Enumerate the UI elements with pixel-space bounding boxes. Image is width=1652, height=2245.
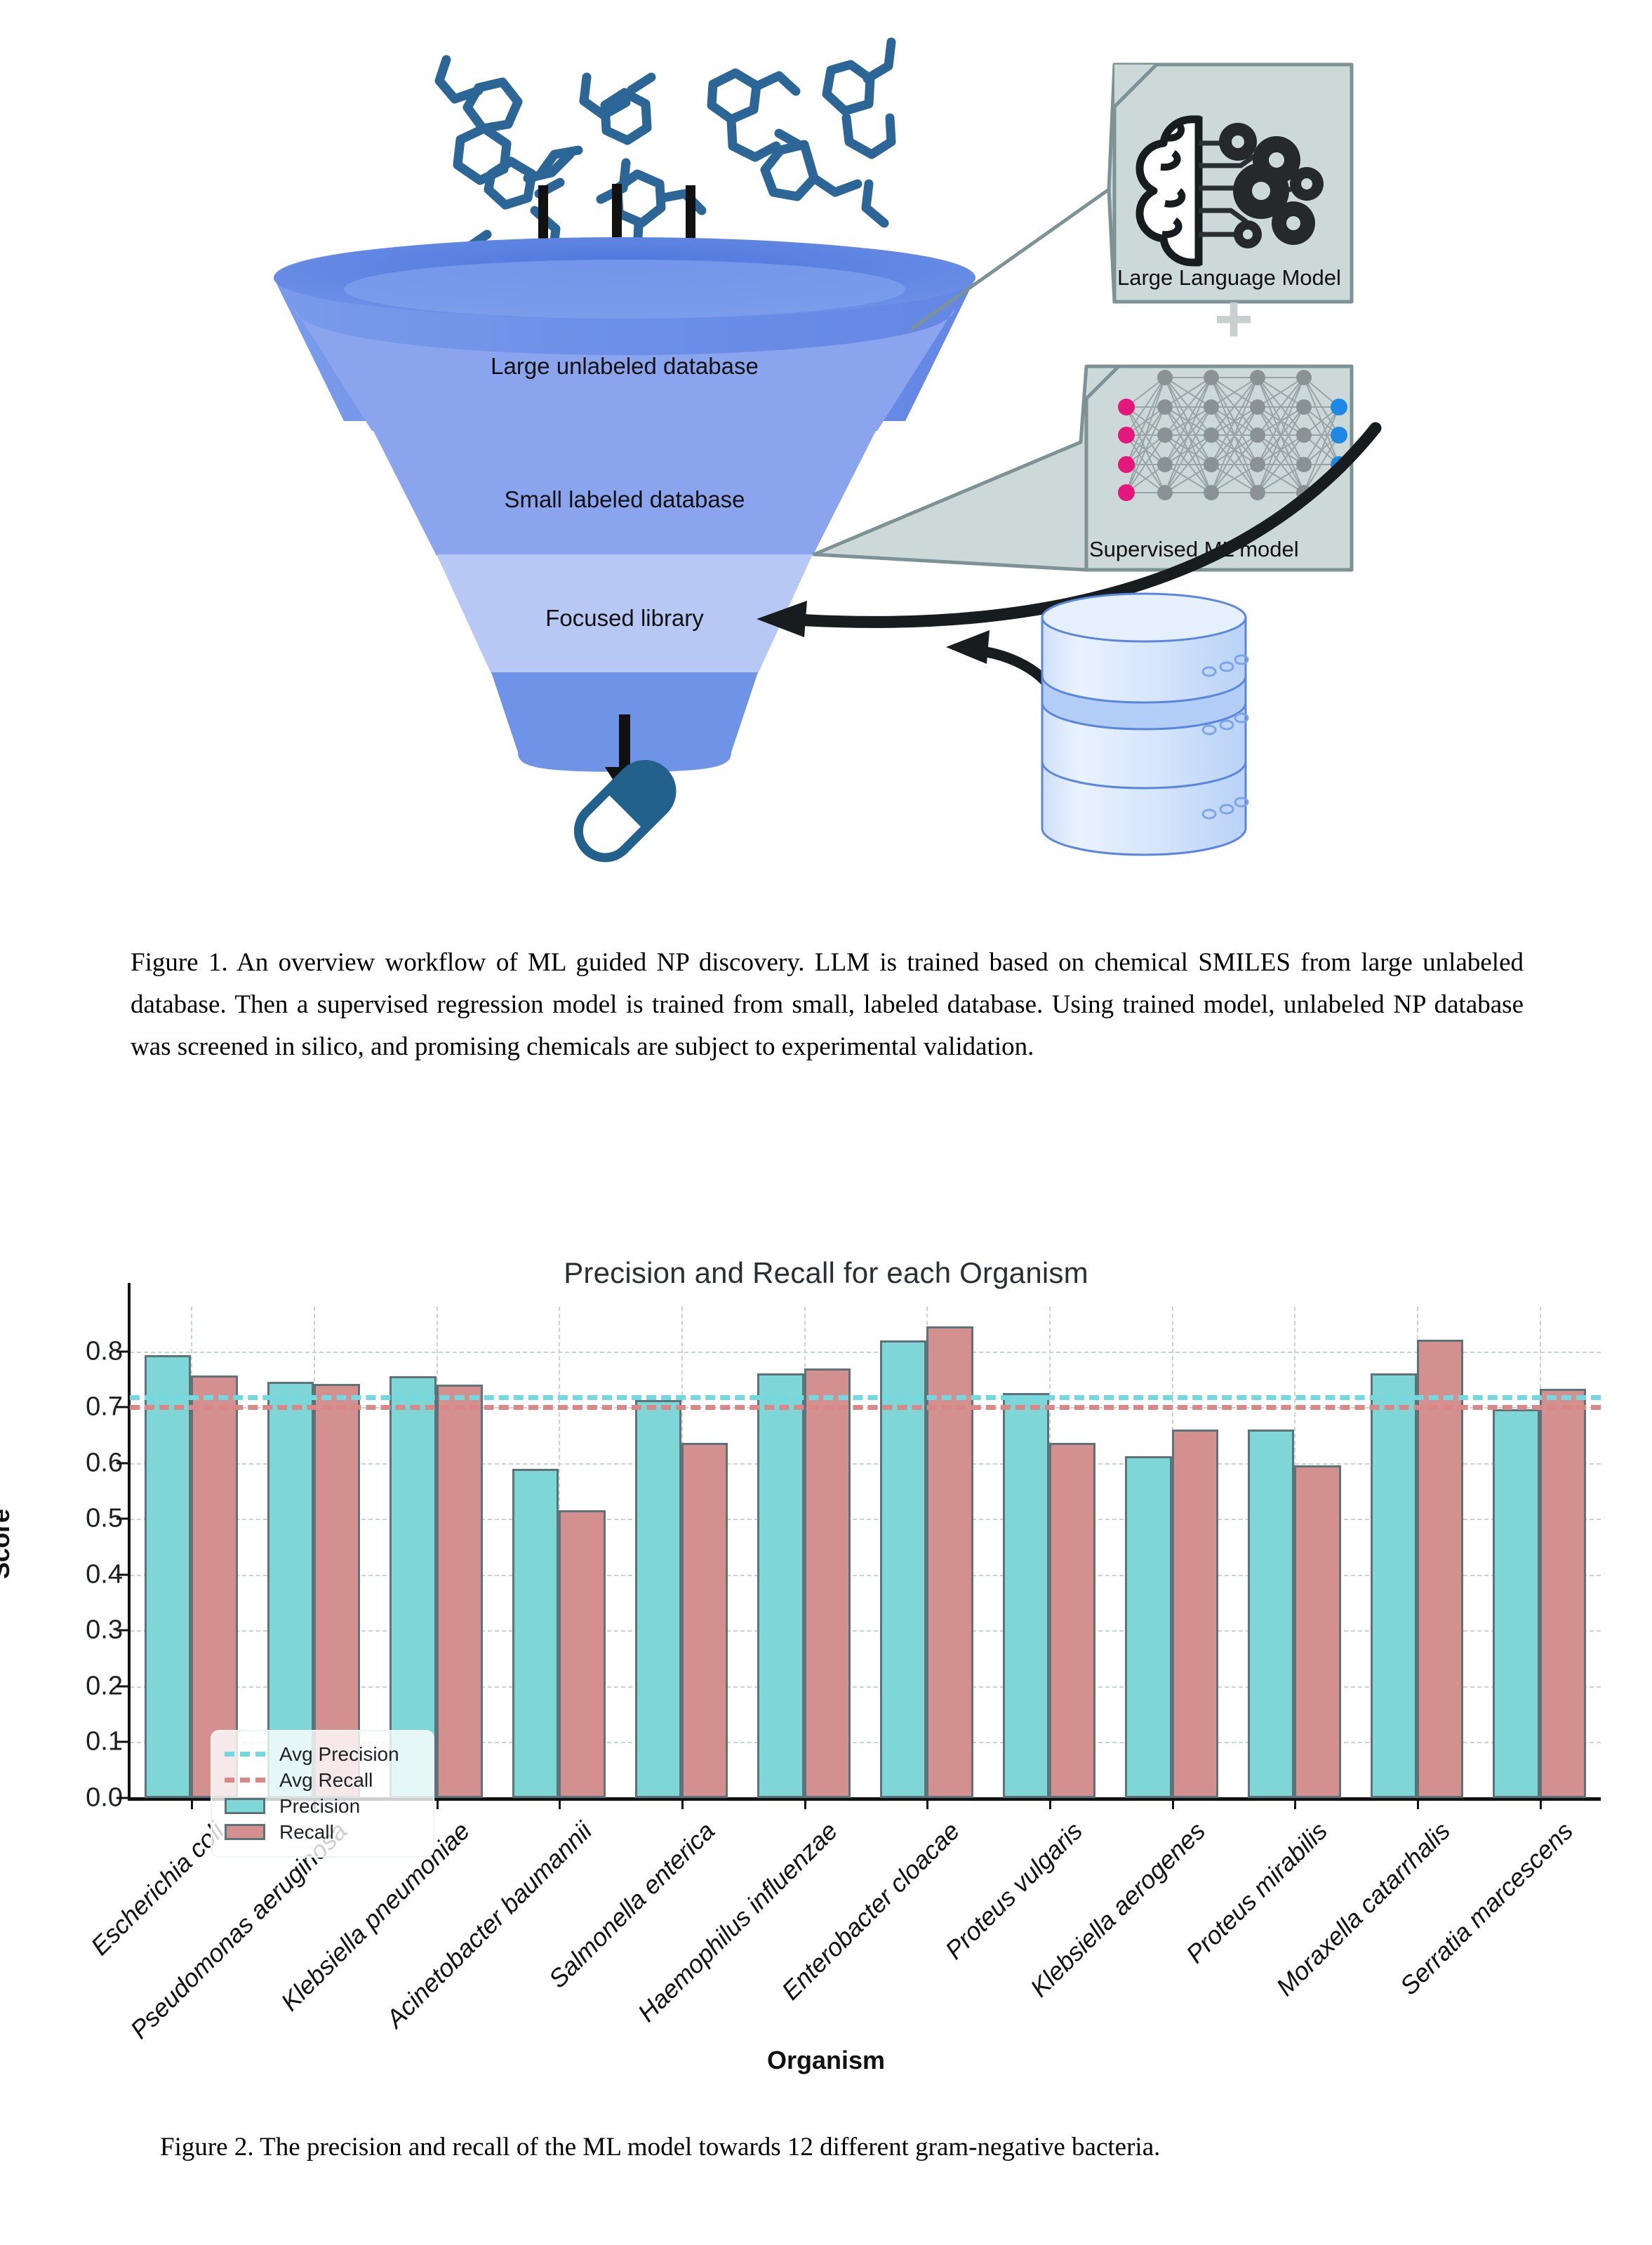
- y-tick-mark: [116, 1573, 128, 1576]
- funnel-stage-label-1: Small labeled database: [504, 486, 745, 512]
- funnel-stage-label-0: Large unlabeled database: [491, 353, 759, 379]
- legend-key-avg-recall: [223, 1778, 267, 1783]
- y-tick-mark: [116, 1462, 128, 1464]
- reference-line-avg-precision: [130, 1395, 1601, 1400]
- x-tick-mark: [804, 1798, 806, 1809]
- paper-page: Large unlabeled database Small labeled d…: [0, 0, 1652, 2245]
- y-tick-mark: [116, 1685, 128, 1687]
- x-tick-mark: [926, 1798, 928, 1809]
- y-tick-mark: [116, 1797, 128, 1799]
- database-cylinder-icon: NP database: [1042, 594, 1248, 855]
- bar-recall: [1294, 1465, 1340, 1798]
- bar-precision: [1371, 1373, 1417, 1798]
- bar-precision: [512, 1469, 559, 1798]
- bar-recall: [1540, 1389, 1586, 1798]
- legend-item-precision: Precision: [223, 1793, 422, 1819]
- bar-precision: [1125, 1456, 1171, 1798]
- legend-label-avg-precision: Avg Precision: [279, 1743, 399, 1766]
- x-tick-label: Haemophilus influenzae: [632, 1816, 843, 2027]
- x-tick-mark: [559, 1798, 561, 1809]
- x-tick-mark: [681, 1798, 684, 1809]
- x-tick-mark: [1049, 1798, 1051, 1809]
- callout-label-ml: Supervised ML model: [1089, 537, 1299, 561]
- y-tick-mark: [116, 1406, 128, 1408]
- bar-precision: [1248, 1430, 1294, 1798]
- plus-symbol: +: [1214, 281, 1253, 357]
- legend-key-recall: [223, 1824, 267, 1840]
- y-axis-title: Score: [0, 1509, 15, 1579]
- x-tick-mark: [1294, 1798, 1296, 1809]
- legend-item-avg-precision: Avg Precision: [223, 1741, 422, 1767]
- database-arrow-icon: [946, 630, 1054, 693]
- chart-title: Precision and Recall for each Organism: [0, 1256, 1652, 1290]
- bar-recall: [1049, 1443, 1095, 1798]
- bar-recall: [804, 1368, 851, 1799]
- chart-legend[interactable]: Avg Precision Avg Recall Precision Recal…: [211, 1730, 434, 1858]
- plot-area: 0.00.10.20.30.40.50.60.70.8 Avg Precisio…: [130, 1307, 1601, 1798]
- x-tick-mark: [1172, 1798, 1174, 1809]
- y-tick-mark: [116, 1350, 128, 1352]
- bar-recall: [437, 1385, 483, 1798]
- x-tick-mark: [1540, 1798, 1542, 1809]
- bar-precision: [757, 1373, 804, 1798]
- legend-item-recall: Recall: [223, 1819, 422, 1845]
- bar-precision: [1493, 1409, 1539, 1798]
- figure-1-caption: Figure 1. An overview workflow of ML gui…: [131, 942, 1524, 1068]
- legend-label-precision: Precision: [279, 1795, 360, 1818]
- y-tick-mark: [116, 1630, 128, 1632]
- legend-key-avg-precision: [223, 1752, 267, 1757]
- funnel-stage-label-2: Focused library: [545, 605, 704, 631]
- reference-line-avg-recall: [130, 1405, 1601, 1410]
- x-tick-mark: [191, 1798, 193, 1809]
- y-tick-mark: [116, 1518, 128, 1520]
- bar-precision: [635, 1400, 681, 1798]
- y-axis-line: [128, 1283, 131, 1798]
- figure-2-caption: Figure 2. The precision and recall of th…: [160, 2126, 1514, 2169]
- x-tick-mark: [1417, 1798, 1419, 1809]
- figure-2-chart: Precision and Recall for each Organism S…: [0, 1242, 1652, 2119]
- x-tick-mark: [437, 1798, 439, 1809]
- bar-recall: [559, 1510, 605, 1798]
- bar-recall: [681, 1443, 728, 1798]
- bar-precision: [145, 1355, 191, 1798]
- legend-label-recall: Recall: [279, 1821, 334, 1844]
- x-axis-title: Organism: [0, 2046, 1652, 2075]
- callout-large-language-model: Large Language Model: [912, 65, 1352, 328]
- legend-key-precision: [223, 1798, 267, 1814]
- bar-precision: [1003, 1393, 1049, 1799]
- figure-1-workflow-diagram: Large unlabeled database Small labeled d…: [0, 0, 1652, 905]
- legend-item-avg-recall: Avg Recall: [223, 1767, 422, 1793]
- gridline-h: [130, 1352, 1601, 1353]
- bar-recall: [1172, 1430, 1218, 1798]
- molecule-cluster-icon: [439, 42, 891, 264]
- legend-label-avg-recall: Avg Recall: [279, 1769, 373, 1792]
- y-tick-mark: [116, 1741, 128, 1743]
